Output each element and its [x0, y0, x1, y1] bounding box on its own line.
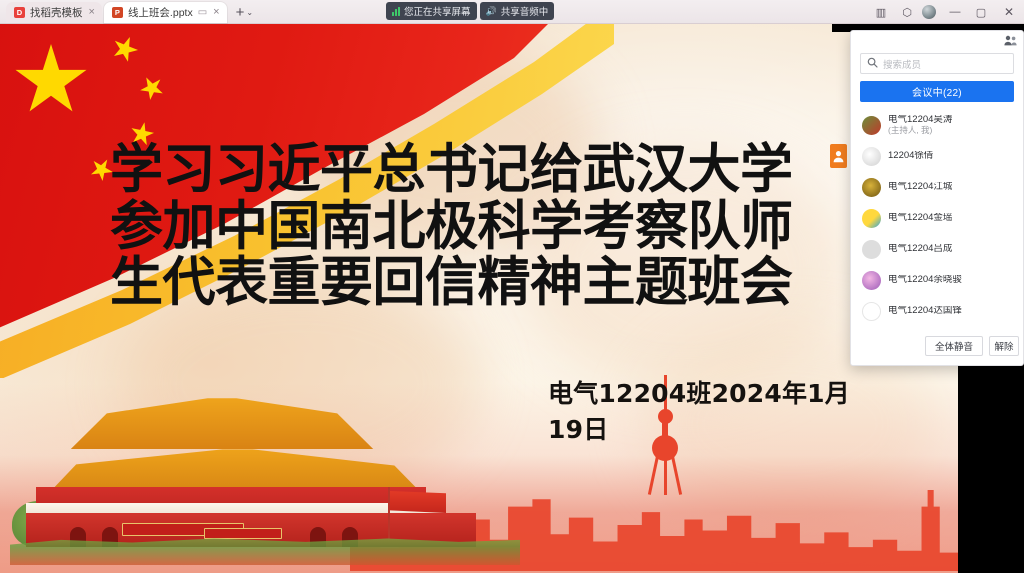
participant-name: 电气12204吕成 [888, 244, 952, 255]
app-window: D 找稻壳模板 × P 线上班会.pptx ▭ × + ⌄ 您正在共享屏幕 🔊 … [0, 0, 1024, 573]
participant-name: 电气12204达国锋 [888, 306, 962, 317]
unmute-all-button[interactable]: 解除 [989, 336, 1019, 356]
participants-panel-header [851, 31, 1023, 53]
avatar[interactable] [922, 5, 936, 19]
slide-title: 学习习近平总书记给武汉大学 参加中国南北极科学考察队师 生代表重要回信精神主题班… [110, 142, 850, 312]
tab-strip: D 找稻壳模板 × P 线上班会.pptx ▭ × + ⌄ [0, 0, 257, 23]
flag-star-icon [135, 71, 169, 105]
cast-icon[interactable]: ▭ [198, 8, 207, 18]
minimize-button[interactable]: — [942, 0, 968, 24]
list-item[interactable]: 电气12204吕成 [853, 234, 1021, 265]
meeting-status-button[interactable]: 会议中(22) [860, 81, 1014, 102]
screen-share-status[interactable]: 您正在共享屏幕 [386, 2, 477, 20]
search-placeholder: 搜索成员 [883, 57, 921, 71]
wps-icon: D [14, 7, 25, 18]
list-item[interactable]: 电气12204金瑶 [853, 203, 1021, 234]
avatar [862, 178, 881, 197]
participants-list[interactable]: 电气12204吴涛 (主持人, 我) 12204徐倩 电气12204江城 [851, 110, 1023, 335]
speaker-icon: 🔊 [486, 6, 497, 17]
powerpoint-icon: P [112, 7, 123, 18]
avatar [862, 147, 881, 166]
tiananmen-gate-graphic [10, 391, 530, 561]
tab-title: 找稻壳模板 [30, 5, 83, 20]
window-controls: ▥ ⬡ — ▢ ✕ [868, 0, 1024, 24]
list-item[interactable]: 电气12204达国锋 [853, 296, 1021, 327]
avatar [862, 116, 881, 135]
participant-name: 电气12204江城 [888, 182, 952, 193]
avatar [862, 302, 881, 321]
search-icon [867, 55, 878, 73]
plus-icon: + [236, 4, 245, 21]
search-area: 搜索成员 [851, 53, 1023, 81]
tab-close-icon[interactable]: × [212, 7, 220, 18]
flag-star-large-icon [14, 44, 88, 118]
participant-role: (主持人, 我) [888, 126, 952, 136]
people-icon[interactable] [1004, 33, 1017, 51]
signal-bars-icon [392, 7, 400, 16]
presenter-person-icon[interactable] [830, 144, 847, 168]
participants-panel: 搜索成员 会议中(22) 电气12204吴涛 (主持人, 我) 12204徐倩 [850, 30, 1024, 366]
maximize-button[interactable]: ▢ [968, 0, 994, 24]
close-button[interactable]: ✕ [994, 0, 1024, 24]
chevron-down-icon[interactable]: ⌄ [246, 8, 253, 17]
list-item[interactable]: 电气12204余晓骏 [853, 265, 1021, 296]
mute-all-button[interactable]: 全体静音 [925, 336, 983, 356]
participant-name: 12204徐倩 [888, 151, 933, 162]
participant-name: 电气12204金瑶 [888, 213, 952, 224]
split-view-icon[interactable]: ▥ [868, 0, 894, 24]
search-input[interactable]: 搜索成员 [860, 53, 1014, 74]
list-item[interactable]: 电气12204吴涛 (主持人, 我) [853, 110, 1021, 141]
list-item[interactable]: 电气12204江城 [853, 172, 1021, 203]
screen-share-label: 您正在共享屏幕 [404, 4, 471, 18]
tab-online-class-pptx[interactable]: P 线上班会.pptx ▭ × [104, 2, 227, 23]
participant-name: 电气12204余晓骏 [888, 275, 962, 286]
avatar [862, 240, 881, 259]
tab-title: 线上班会.pptx [128, 5, 193, 20]
avatar [862, 209, 881, 228]
audio-share-status[interactable]: 🔊 共享音频中 [480, 2, 555, 20]
list-item[interactable]: 12204徐倩 [853, 141, 1021, 172]
new-tab-button[interactable]: + ⌄ [229, 2, 257, 23]
tab-close-icon[interactable]: × [88, 7, 96, 18]
flag-star-icon [108, 32, 142, 66]
share-status-bar: 您正在共享屏幕 🔊 共享音频中 [386, 2, 554, 20]
avatar [862, 271, 881, 290]
globe-icon[interactable]: ⬡ [894, 0, 920, 24]
presentation-slide[interactable]: 学习习近平总书记给武汉大学 参加中国南北极科学考察队师 生代表重要回信精神主题班… [0, 24, 958, 573]
slide-subtitle: 电气12204班2024年1月19日 [548, 374, 868, 446]
tab-find-template[interactable]: D 找稻壳模板 × [6, 2, 102, 23]
participants-panel-footer: 全体静音 解除 [851, 335, 1023, 365]
audio-share-label: 共享音频中 [501, 4, 549, 18]
